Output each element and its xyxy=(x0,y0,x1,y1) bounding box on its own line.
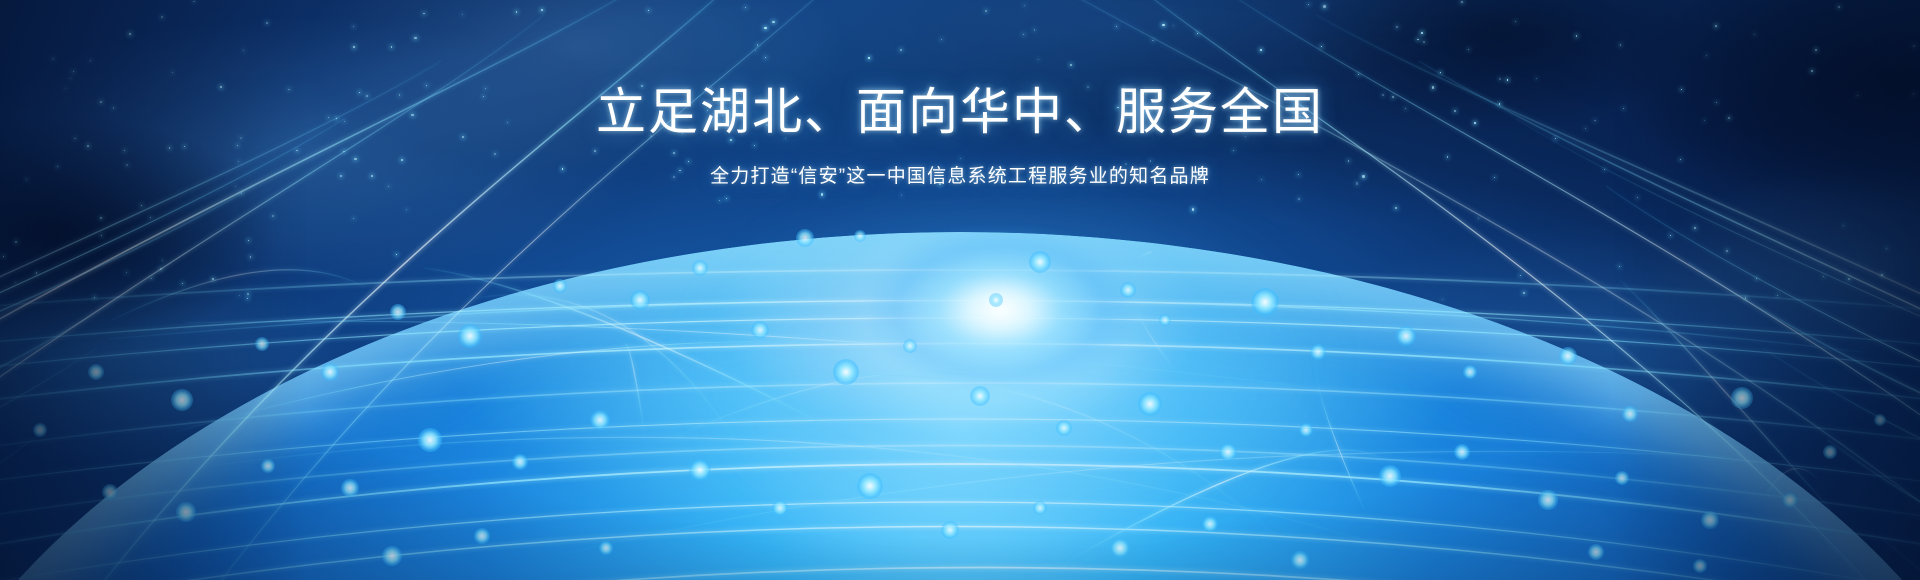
hero-banner: 立足湖北、面向华中、服务全国 全力打造“信安”这一中国信息系统工程服务业的知名品… xyxy=(0,0,1920,580)
banner-headline: 立足湖北、面向华中、服务全国 xyxy=(0,82,1920,143)
banner-copy: 立足湖北、面向华中、服务全国 全力打造“信安”这一中国信息系统工程服务业的知名品… xyxy=(0,82,1920,188)
banner-subline: 全力打造“信安”这一中国信息系统工程服务业的知名品牌 xyxy=(0,161,1920,188)
